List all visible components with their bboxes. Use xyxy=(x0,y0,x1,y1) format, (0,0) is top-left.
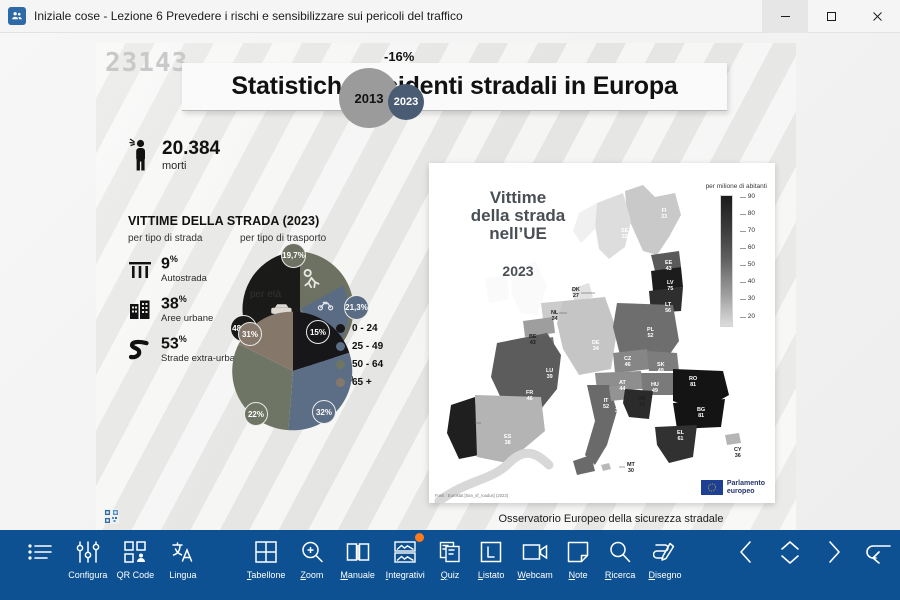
toolbar-item-integrativi[interactable]: Integrativi xyxy=(381,530,430,592)
search-icon xyxy=(609,537,631,567)
motorway-icon xyxy=(128,259,152,281)
toolbar-label-lingua: Lingua xyxy=(169,570,196,580)
app-icon xyxy=(8,7,26,25)
eu-logo-line1: Parlamento xyxy=(727,480,765,488)
toolbar-label-quiz: Quiz xyxy=(441,570,460,580)
grid-icon xyxy=(255,537,277,567)
road-pct-2: 53 xyxy=(161,335,179,352)
map-label-at: AT44 xyxy=(619,381,626,393)
toolbar-item-lingua[interactable]: Lingua xyxy=(159,530,207,592)
images-icon xyxy=(393,537,417,567)
map-year: 2023 xyxy=(443,263,593,279)
toolbar-item-ricerca[interactable]: Ricerca xyxy=(598,530,642,592)
age-legend: 0 - 24 25 - 49 50 - 64 65 + xyxy=(336,323,383,388)
qrcode-icon xyxy=(124,537,146,567)
map-label-sk: SK49 xyxy=(657,363,664,375)
translate-icon xyxy=(171,537,195,567)
toolbar-item-manuale[interactable]: Manuale xyxy=(335,530,381,592)
toolbar-label-note: Note xyxy=(569,570,588,580)
map-title: Vittime della strada nell’UE xyxy=(443,189,593,243)
nav-prev-button[interactable] xyxy=(724,530,768,592)
eu-logo-line2: europeo xyxy=(727,488,765,496)
deaths-label: morti xyxy=(162,160,220,172)
legend-swatch-0-24 xyxy=(336,324,345,333)
chevron-updown-icon xyxy=(778,537,802,567)
window-controls xyxy=(762,0,900,33)
nav-next-button[interactable] xyxy=(812,530,856,592)
minimize-button[interactable] xyxy=(762,0,808,33)
map-label-cz: CZ46 xyxy=(624,357,631,369)
road-type-item-1: 38% Aree urbane xyxy=(128,295,213,324)
legend-tick-40: 40 xyxy=(748,278,755,285)
map-label-hu: HU49 xyxy=(651,383,659,395)
legend-item-25-49: 25 - 49 xyxy=(336,341,383,352)
winding-road-icon xyxy=(128,339,152,361)
legend-tick-50: 50 xyxy=(748,261,755,268)
toolbar-label-tabellone: Tabellone xyxy=(247,570,286,580)
legend-tick-80: 80 xyxy=(748,210,755,217)
square-l-icon xyxy=(480,537,502,567)
app-window: Iniziale cose - Lezione 6 Prevedere i ri… xyxy=(0,0,900,600)
sliders-icon xyxy=(76,537,100,567)
toolbar-item-listato[interactable]: Listato xyxy=(470,530,512,592)
map-region-ie xyxy=(485,275,509,303)
map-label-se: SE22 xyxy=(621,229,628,241)
toolbar-label-ricerca: Ricerca xyxy=(605,570,636,580)
publisher-logo xyxy=(104,509,119,524)
legend-swatch-50-64 xyxy=(336,360,345,369)
toolbar-label-webcam: Webcam xyxy=(517,570,552,580)
map-label-lt: LT56 xyxy=(665,303,671,315)
map-label-cy: CY36 xyxy=(734,448,741,460)
slide-caption: Osservatorio Europeo della sicurezza str… xyxy=(446,513,776,525)
slide-title-banner: Statistiche incidenti stradali in Europa xyxy=(182,63,727,111)
legend-swatch-65plus xyxy=(336,378,345,387)
map-label-si: SI39 xyxy=(615,403,621,415)
map-label-nl: NL34 xyxy=(551,311,558,323)
subheading-transport: per tipo di trasporto xyxy=(240,233,326,244)
toolbar-item-webcam[interactable]: Webcam xyxy=(512,530,558,592)
chevron-left-icon xyxy=(736,537,756,567)
map-title-line2: della strada xyxy=(443,207,593,225)
video-icon xyxy=(522,537,548,567)
page-title: Statistiche incidenti stradali in Europa xyxy=(231,72,677,101)
road-pct-0: 9 xyxy=(161,255,170,272)
trend-bubble-2023: 2023 xyxy=(388,84,424,120)
legend-item-65plus: 65 + xyxy=(336,377,383,388)
map-source: Fonti : Eurostat [tran_sf_roadus] (2023) xyxy=(435,493,508,498)
toolbar-label-manuale: Manuale xyxy=(340,570,375,580)
toolbar-label-zoom: Zoom xyxy=(300,570,323,580)
close-button[interactable] xyxy=(854,0,900,33)
maximize-button[interactable] xyxy=(808,0,854,33)
map-region-cz xyxy=(613,349,651,373)
return-arrow-icon xyxy=(864,537,892,567)
note-icon xyxy=(567,537,589,567)
map-label-de: DE34 xyxy=(592,341,599,353)
subheading-age: per età xyxy=(250,289,281,300)
slide-number: 23143 xyxy=(105,48,188,78)
deaths-stat: 20.384 morti xyxy=(128,138,220,172)
map-label-es: ES38 xyxy=(504,435,511,447)
slide-canvas[interactable]: 23143 Statistiche incidenti stradali in … xyxy=(96,43,796,530)
map-label-bg: BG81 xyxy=(697,408,705,420)
section-heading: VITTIME DELLA STRADA (2023) xyxy=(128,214,319,228)
pie-label-pedoni: 19,7% xyxy=(281,243,306,268)
eu-flag-icon xyxy=(701,480,723,495)
notification-badge xyxy=(415,533,424,542)
road-pct-1: 38 xyxy=(161,295,179,312)
road-label-0: Autostrada xyxy=(161,273,207,284)
map-label-dk: DK27 xyxy=(572,288,580,300)
bottom-toolbar: Configura QR Code Lingua xyxy=(0,530,900,600)
map-label-ee: EE43 xyxy=(665,261,672,273)
map-title-line3: nell’UE xyxy=(443,225,593,243)
road-type-item-2: 53% Strade extra-urbane xyxy=(128,335,246,364)
age-label-25-49: 32% xyxy=(312,400,336,424)
map-label-el: EL61 xyxy=(677,431,684,443)
chevron-right-icon xyxy=(824,537,844,567)
map-label-lu: LU39 xyxy=(546,369,553,381)
age-label-0-24: 15% xyxy=(306,320,330,344)
toolbar-item-elenco[interactable] xyxy=(16,530,64,592)
age-label-65plus: 31% xyxy=(238,322,262,346)
toolbar-label-qrcode: QR Code xyxy=(117,570,155,580)
map-label-ro: RO81 xyxy=(689,377,697,389)
buildings-icon xyxy=(128,299,152,321)
road-type-item-0: 9% Autostrada xyxy=(128,255,207,284)
eu-parliament-logo: Parlamento europeo xyxy=(701,480,765,496)
map-region-cy xyxy=(725,433,741,445)
magnifier-plus-icon xyxy=(301,537,323,567)
eu-map-panel: Vittime della strada nell’UE 2023 per mi… xyxy=(429,163,775,503)
toolbar-item-qrcode[interactable]: QR Code xyxy=(112,530,160,592)
map-label-fr: FR46 xyxy=(526,391,533,403)
window-title: Iniziale cose - Lezione 6 Prevedere i ri… xyxy=(34,9,762,23)
toolbar-item-disegno[interactable]: Disegno xyxy=(642,530,688,592)
nav-back-button[interactable] xyxy=(856,530,900,592)
pen-icon xyxy=(653,537,677,567)
map-legend-title: per milione di abitanti xyxy=(706,183,767,190)
legend-tick-60: 60 xyxy=(748,244,755,251)
map-label-pt: PT61 xyxy=(461,417,468,429)
nav-updown-button[interactable] xyxy=(768,530,812,592)
cards-icon xyxy=(439,537,461,567)
pedestrian-icon xyxy=(128,138,150,172)
eu-logo-text: Parlamento europeo xyxy=(727,480,765,496)
map-label-hr: HR72 xyxy=(638,397,646,409)
map-label-be: BE43 xyxy=(529,335,536,347)
age-label-50-64: 22% xyxy=(244,402,268,426)
toolbar-label-disegno: Disegno xyxy=(648,570,681,580)
subheading-road: per tipo di strada xyxy=(128,233,203,244)
toolbar-item-note[interactable]: Note xyxy=(558,530,598,592)
map-label-fi: FI33 xyxy=(661,209,667,221)
map-title-line1: Vittime xyxy=(443,189,593,207)
title-bar: Iniziale cose - Lezione 6 Prevedere i ri… xyxy=(0,0,900,33)
toolbar-item-tabellone[interactable]: Tabellone xyxy=(243,530,289,592)
legend-tick-90: 90 xyxy=(748,193,755,200)
toolbar-item-configura[interactable]: Configura xyxy=(64,530,112,592)
list-icon xyxy=(27,537,53,567)
toolbar-label-configura: Configura xyxy=(68,570,107,580)
legend-swatch-25-49 xyxy=(336,342,345,351)
map-label-lv: LV75 xyxy=(667,281,673,293)
toolbar-item-quiz[interactable]: Quiz xyxy=(430,530,470,592)
toolbar-item-zoom[interactable]: Zoom xyxy=(289,530,335,592)
book-icon xyxy=(346,537,370,567)
deaths-value: 20.384 xyxy=(162,139,220,158)
map-legend-gradient xyxy=(720,195,733,327)
legend-tick-20: 20 xyxy=(748,313,755,320)
trend-percent: -16% xyxy=(384,49,414,64)
slide-workspace: 23143 Statistiche incidenti stradali in … xyxy=(0,33,900,530)
legend-tick-30: 30 xyxy=(748,295,755,302)
road-label-1: Aree urbane xyxy=(161,313,213,324)
map-label-pl: PL52 xyxy=(647,328,654,340)
legend-item-50-64: 50 - 64 xyxy=(336,359,383,370)
toolbar-label-integrativi: Integrativi xyxy=(386,570,425,580)
map-label-mt: MT30 xyxy=(627,463,635,475)
toolbar-label-listato: Listato xyxy=(478,570,505,580)
legend-tick-70: 70 xyxy=(748,227,755,234)
map-label-it: IT52 xyxy=(603,399,609,411)
legend-item-0-24: 0 - 24 xyxy=(336,323,383,334)
